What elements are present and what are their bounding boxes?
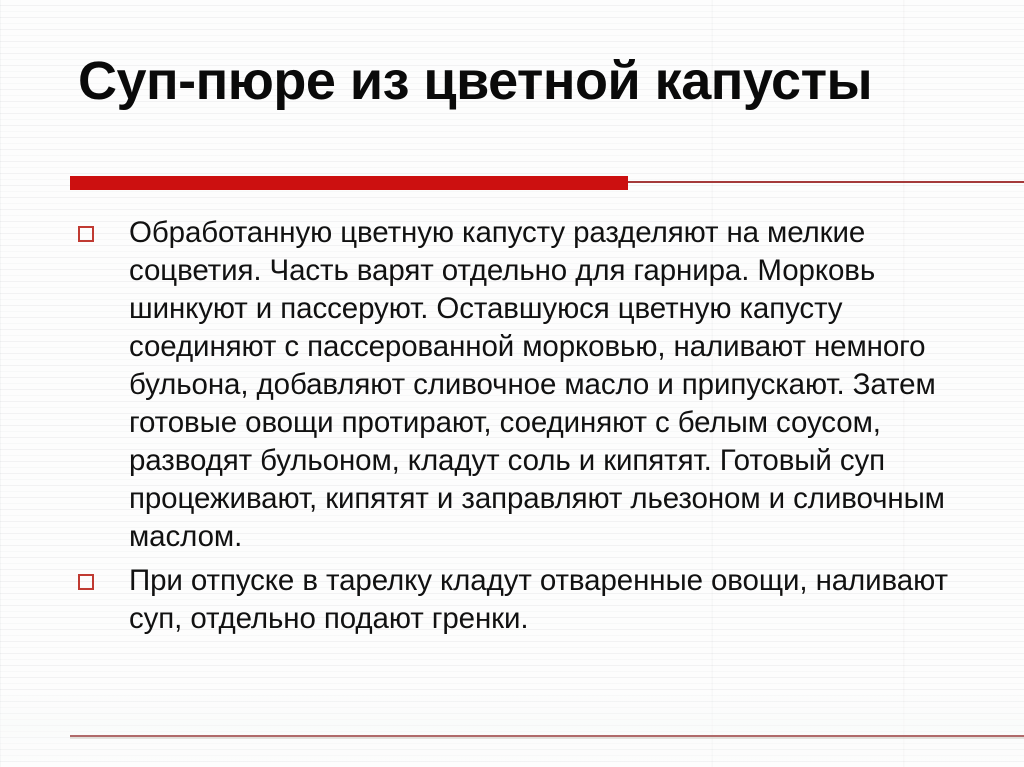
list-item: При отпуске в тарелку кладут отваренные … [78,562,968,638]
list-item-text: При отпуске в тарелку кладут отваренные … [129,562,968,638]
presentation-slide: Суп-пюре из цветной капусты Обработанную… [0,0,1024,767]
slide-title: Суп-пюре из цветной капусты [78,48,968,114]
footer-divider-shadow [70,737,1024,739]
slide-body: Обработанную цветную капусту разделяют н… [78,214,968,638]
hollow-square-bullet-icon [78,226,94,242]
hollow-square-bullet-icon [78,574,94,590]
title-divider-bar [70,176,628,190]
list-item-text: Обработанную цветную капусту разделяют н… [129,214,968,556]
background-bottom-wash [0,690,1024,767]
list-item: Обработанную цветную капусту разделяют н… [78,214,968,556]
